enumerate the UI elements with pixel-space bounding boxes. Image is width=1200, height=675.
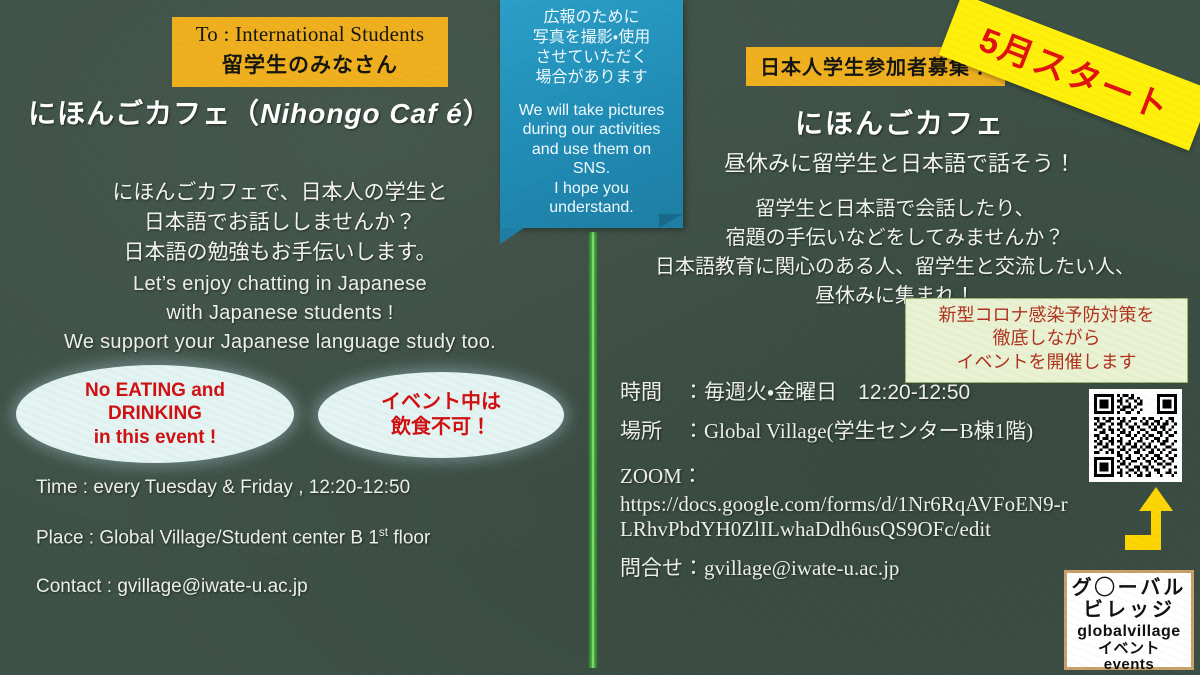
left-jp-line-2: 日本語でお話ししませんか？ <box>0 208 560 238</box>
right-event-details: 時間 ：毎週火・金曜日 12:20-12:50 場所 ：Global Villa… <box>620 382 1080 597</box>
global-village-logo: グ◯ーバル ビレッジ globalvillage イベント events <box>1064 570 1194 670</box>
logo-katakana-line-1: グ◯ーバル <box>1071 578 1187 600</box>
qr-pointer-arrow-icon <box>1125 487 1183 550</box>
bubble-tail-icon <box>500 228 524 244</box>
left-description-en: Let’s enjoy chatting in Japanese with Ja… <box>0 270 560 358</box>
right-body-line-2: 宿題の手伝いなどをしてみませんか？ <box>590 224 1200 253</box>
logo-roman-line-2: イベント events <box>1071 641 1187 673</box>
left-place-prefix: Place : Global Village/Student center B … <box>36 527 379 548</box>
covid-prevention-notice: 新型コロナ感染予防対策を 徹底しながら イベントを開催します <box>905 298 1188 383</box>
main-title-close: ） <box>463 98 492 129</box>
left-place-suffix: floor <box>388 527 430 548</box>
no-eating-drinking-oval-en: No EATING and DRINKING in this event ! <box>16 365 294 463</box>
left-time-line: Time : every Tuesday & Friday , 12:20-12… <box>36 477 576 500</box>
poster-canvas: To : International Students 留学生のみなさん にほん… <box>0 0 1200 675</box>
right-body-line-3: 日本語教育に関心のある人、留学生と交流したい人、 <box>590 253 1200 282</box>
logo-katakana-line-2: ビレッジ <box>1071 600 1187 622</box>
covid-line-1: 新型コロナ感染予防対策を <box>914 304 1179 327</box>
covid-line-3: イベントを開催します <box>914 351 1179 374</box>
left-en-line-2: with Japanese students ! <box>0 299 560 328</box>
left-contact-line: Contact : gvillage@iwate-u.ac.jp <box>36 576 576 599</box>
main-title-en: Nihongo Caf é <box>260 98 463 129</box>
bubble-jp-text: 広報のために 写真を撮影・使用 させていただく 場合があります <box>506 8 677 89</box>
oval-jp-line-2: 飲食不可！ <box>381 415 501 440</box>
zoom-form-url[interactable]: https://docs.google.com/forms/d/1Nr6RqAV… <box>620 492 1080 542</box>
right-body-line-1: 留学生と日本語で会話したり、 <box>590 195 1200 224</box>
oval-jp-line-1: イベント中は <box>381 390 501 415</box>
left-event-details: Time : every Tuesday & Friday , 12:20-12… <box>36 477 576 599</box>
logo-roman-line-1: globalvillage <box>1071 624 1187 641</box>
main-title-jp: にほんごカフェ（ <box>28 98 260 129</box>
oval-en-line-3: in this event ! <box>85 426 225 450</box>
left-en-line-3: We support your Japanese language study … <box>0 328 560 357</box>
left-jp-line-3: 日本語の勉強もお手伝いします。 <box>0 238 560 268</box>
right-time-line: 時間 ：毎週火・金曜日 12:20-12:50 <box>620 382 1080 403</box>
left-description-jp: にほんごカフェで、日本人の学生と 日本語でお話ししませんか？ 日本語の勉強もお手… <box>0 178 560 267</box>
covid-line-2: 徹底しながら <box>914 327 1179 350</box>
bubble-jp-line-3: させていただく <box>506 48 677 68</box>
right-place-line: 場所 ：Global Village(学生センターB棟1階) <box>620 421 1080 442</box>
to-badge-line-jp: 留学生のみなさん <box>182 49 438 79</box>
left-place-line: Place : Global Village/Student center B … <box>36 526 576 550</box>
right-body-text: 留学生と日本語で会話したり、 宿題の手伝いなどをしてみませんか？ 日本語教育に関… <box>590 195 1200 311</box>
left-en-line-1: Let’s enjoy chatting in Japanese <box>0 270 560 299</box>
right-subtitle: 昼休みに留学生と日本語で話そう！ <box>600 146 1200 178</box>
qr-code-icon[interactable] <box>1089 389 1182 482</box>
bubble-jp-line-2: 写真を撮影・使用 <box>506 28 677 48</box>
bubble-jp-line-4: 場合があります <box>506 68 677 88</box>
right-contact-line: 問合せ：gvillage@iwate-u.ac.jp <box>620 558 1080 579</box>
to-badge-line-en: To : International Students <box>182 22 438 47</box>
left-jp-line-1: にほんごカフェで、日本人の学生と <box>0 178 560 208</box>
bubble-jp-line-1: 広報のために <box>506 8 677 28</box>
to-international-students-badge: To : International Students 留学生のみなさん <box>172 17 448 87</box>
left-place-ordinal: st <box>379 526 388 539</box>
oval-en-line-2: DRINKING <box>85 402 225 426</box>
right-title: にほんごカフェ <box>600 102 1200 142</box>
oval-en-line-1: No EATING and <box>85 379 225 403</box>
no-eating-drinking-oval-jp: イベント中は 飲食不可！ <box>318 372 564 458</box>
main-title: にほんごカフェ（Nihongo Caf é） <box>0 92 520 132</box>
zoom-label: ZOOM： <box>620 460 1080 490</box>
